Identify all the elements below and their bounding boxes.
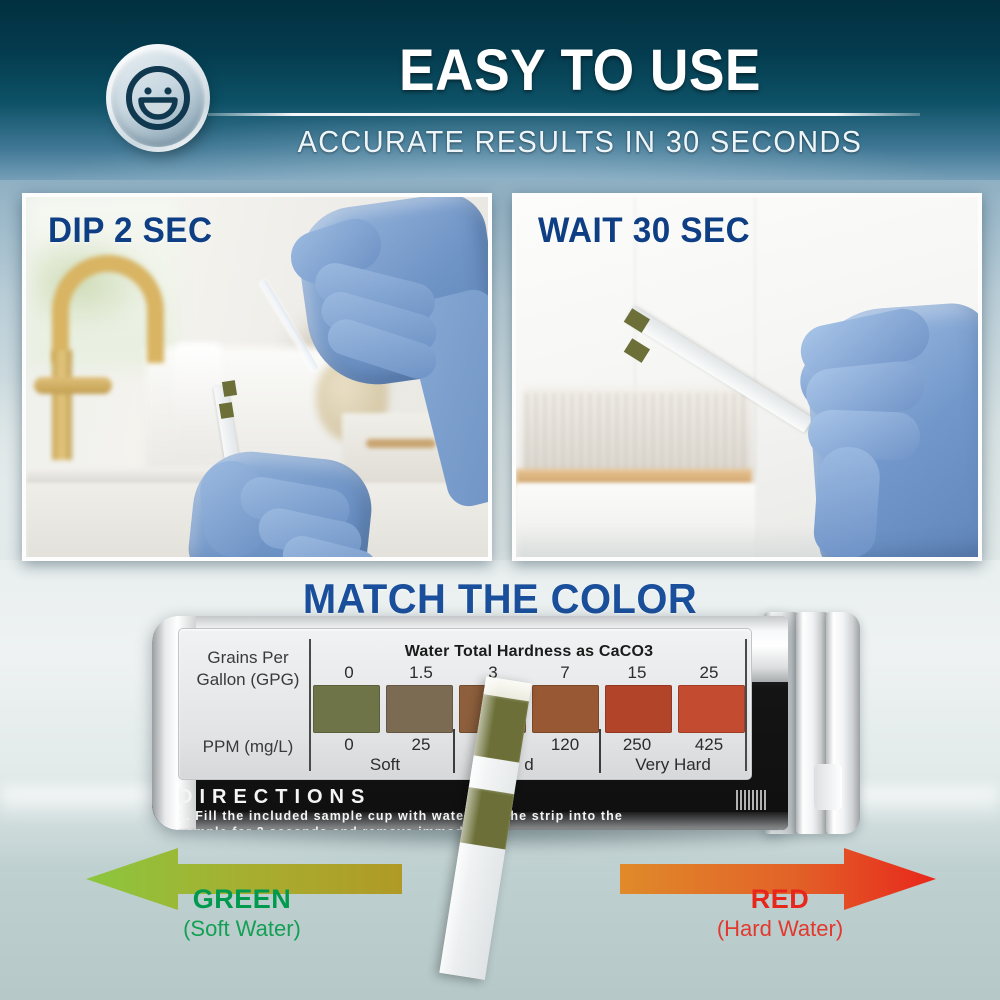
gpg-value-4: 15 xyxy=(601,663,673,683)
step-label-wait: WAIT 30 SEC xyxy=(538,211,750,251)
chart-title: Water Total Hardness as CaCO3 xyxy=(313,643,745,661)
photo-dip-scene xyxy=(26,197,488,557)
faucet-arc xyxy=(52,255,164,363)
category-label-2: Very Hard xyxy=(601,755,745,775)
step-label-dip: DIP 2 SEC xyxy=(48,211,212,251)
gpg-value-1: 1.5 xyxy=(385,663,457,683)
color-swatch-1 xyxy=(386,685,453,733)
strip-pad-upper xyxy=(222,380,237,397)
gpg-value-row: 01.5371525 xyxy=(313,663,745,683)
gpg-value-5: 25 xyxy=(673,663,745,683)
category-row: SoftdVery Hard xyxy=(313,755,745,775)
page-title: EASY TO USE xyxy=(304,36,856,106)
faucet-icon xyxy=(44,255,174,385)
chart-left-divider xyxy=(309,639,311,771)
ppm-row-label: PPM (mg/L) xyxy=(187,737,309,757)
color-swatch-4 xyxy=(605,685,672,733)
ppm-value-row: 02550120250425 xyxy=(313,735,745,755)
page-subtitle: ACCURATE RESULTS IN 30 SECONDS xyxy=(255,120,906,164)
strip-pad-lower xyxy=(219,402,234,419)
gpg-row-label: Grains Per Gallon (GPG) xyxy=(187,647,309,691)
color-swatch-3 xyxy=(532,685,599,733)
gpg-value-0: 0 xyxy=(313,663,385,683)
green-soft-water-indicator: GREEN (Soft Water) xyxy=(82,848,402,914)
glove-knuckle-right xyxy=(812,445,882,557)
ppm-value-4: 250 xyxy=(601,735,673,755)
ppm-value-3: 120 xyxy=(529,735,601,755)
barcode xyxy=(736,790,766,810)
color-swatch-0 xyxy=(313,685,380,733)
cabinet-handle-blur xyxy=(366,439,436,448)
red-subcaption: (Hard Water) xyxy=(660,916,900,942)
cap-notch xyxy=(814,764,842,810)
smiley-face-disc xyxy=(111,49,205,147)
green-caption: GREEN xyxy=(122,884,362,915)
red-caption: RED xyxy=(660,884,900,915)
faucet-handle xyxy=(34,377,112,394)
faucet-column xyxy=(52,350,72,460)
green-subcaption: (Soft Water) xyxy=(122,916,362,942)
category-label-0: Soft xyxy=(313,755,457,775)
gpg-label-line1: Grains Per xyxy=(187,647,309,669)
hardness-color-chart: Grains Per Gallon (GPG) PPM (mg/L) Water… xyxy=(178,628,752,780)
headboard-texture xyxy=(526,393,748,471)
step-photo-wait: WAIT 30 SEC xyxy=(512,193,982,561)
gpg-value-3: 7 xyxy=(529,663,601,683)
infographic-canvas: EASY TO USE ACCURATE RESULTS IN 30 SECON… xyxy=(0,0,1000,1000)
category-divider-2 xyxy=(599,729,601,773)
step-photo-dip: DIP 2 SEC xyxy=(22,193,492,561)
ppm-value-0: 0 xyxy=(313,735,385,755)
red-hard-water-indicator: RED (Hard Water) xyxy=(620,848,940,914)
gpg-label-line2: Gallon (GPG) xyxy=(187,669,309,691)
ppm-value-5: 425 xyxy=(673,735,745,755)
smiley-ring xyxy=(106,44,210,152)
photo-wait-scene xyxy=(516,197,978,557)
header-banner: EASY TO USE ACCURATE RESULTS IN 30 SECON… xyxy=(0,0,1000,185)
ppm-value-1: 25 xyxy=(385,735,457,755)
smiley-glyph xyxy=(122,62,194,134)
category-divider-1 xyxy=(453,729,455,773)
chart-right-divider xyxy=(745,639,747,771)
title-divider xyxy=(208,113,920,116)
color-swatch-5 xyxy=(678,685,745,733)
smiley-face-icon xyxy=(106,44,214,156)
